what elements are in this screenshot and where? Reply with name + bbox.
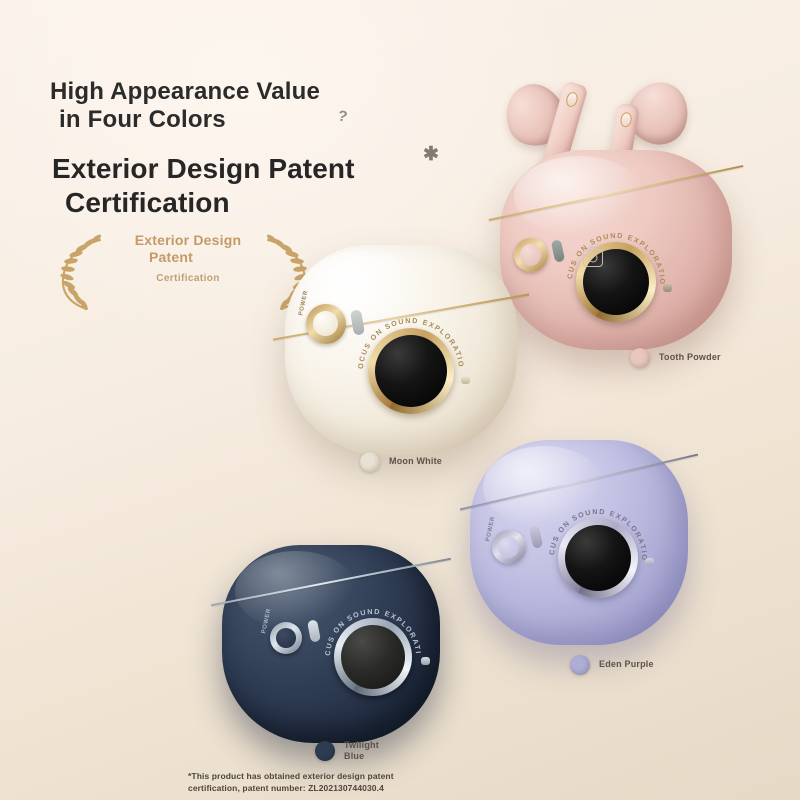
charging-case-moon-white: POWER FOCUS ON SOUND EXPLORATION — [285, 245, 517, 455]
badge-title: Exterior Design Patent — [104, 232, 272, 266]
lens-bezel-blue — [334, 618, 412, 696]
lens-side-dot-purple — [645, 558, 654, 566]
lens-side-dot-white — [461, 376, 470, 384]
lens-side-dot-blue — [421, 657, 430, 665]
camera-glyph-icon — [583, 249, 603, 267]
lens-glass-pink — [583, 249, 649, 315]
lens-bezel-white — [368, 328, 454, 414]
earbud-right-touch-sensor — [619, 111, 632, 128]
poster-canvas: High Appearance Value in Four Colors Ext… — [0, 0, 800, 800]
charging-case-eden-purple: POWER FOCUS ON SOUND EXPLORATION — [470, 440, 688, 645]
power-button-pink[interactable] — [514, 238, 548, 272]
page-title-line-2: Certification — [52, 186, 355, 220]
swatch-dot-eden-purple — [570, 655, 590, 675]
tagline: High Appearance Value in Four Colors — [50, 78, 320, 135]
badge-title-line-1: Exterior Design — [135, 232, 241, 248]
power-button-purple[interactable] — [492, 530, 526, 564]
patent-disclaimer: *This product has obtained exterior desi… — [188, 770, 394, 795]
page-title: Exterior Design Patent Certification — [52, 152, 355, 219]
page-title-line-1: Exterior Design Patent — [52, 153, 355, 184]
tagline-line-2: in Four Colors — [50, 106, 320, 134]
laurel-wreath-left-icon — [56, 234, 108, 310]
badge-text-block: Exterior Design Patent Certification — [104, 232, 272, 284]
swatch-dot-twilight-blue — [315, 741, 335, 761]
swatch-label-tooth-powder: Tooth Powder — [659, 352, 721, 363]
charging-case-twilight-blue: POWER FOCUS ON SOUND EXPLORATION — [222, 545, 440, 743]
lens-assembly-white: FOCUS ON SOUND EXPLORATION — [350, 310, 472, 432]
swatch-label-twilight-blue: Twilight Blue — [344, 740, 379, 763]
lens-assembly-blue: FOCUS ON SOUND EXPLORATION — [318, 602, 428, 712]
scan-artifact-mark: ? — [336, 107, 349, 126]
earbud-left-touch-sensor — [565, 91, 580, 108]
scan-artifact-asterisk: ✱ — [423, 143, 439, 166]
swatch-dot-tooth-powder — [630, 348, 650, 368]
colorway-swatch-twilight-blue[interactable]: Twilight Blue — [315, 740, 379, 763]
power-button-blue[interactable] — [270, 622, 302, 654]
lens-assembly-pink: FOCUS ON SOUND EXPLORATION — [560, 226, 672, 338]
lens-bezel-pink — [576, 242, 656, 322]
swatch-label-moon-white: Moon White — [389, 456, 442, 467]
badge-title-line-2: Patent — [104, 249, 272, 266]
badge-subtitle: Certification — [104, 273, 272, 284]
charging-case-tooth-powder: FOCUS ON SOUND EXPLORATION — [500, 150, 732, 350]
colorway-swatch-tooth-powder[interactable]: Tooth Powder — [630, 348, 721, 368]
colorway-swatch-moon-white[interactable]: Moon White — [360, 452, 442, 472]
power-button-white[interactable] — [306, 304, 346, 344]
tagline-line-1: High Appearance Value — [50, 78, 320, 105]
lens-glass-purple — [565, 525, 631, 591]
swatch-label-eden-purple: Eden Purple — [599, 659, 654, 670]
lens-glass-blue — [341, 625, 405, 689]
swatch-dot-moon-white — [360, 452, 380, 472]
lens-glass-white — [375, 335, 447, 407]
lens-side-dot-pink — [663, 284, 672, 292]
lens-bezel-purple — [558, 518, 638, 598]
lens-assembly-purple: FOCUS ON SOUND EXPLORATION — [542, 502, 654, 614]
patent-certification-badge: Exterior Design Patent Certification — [52, 228, 318, 314]
colorway-swatch-eden-purple[interactable]: Eden Purple — [570, 655, 654, 675]
headline-block: High Appearance Value in Four Colors — [50, 78, 320, 135]
